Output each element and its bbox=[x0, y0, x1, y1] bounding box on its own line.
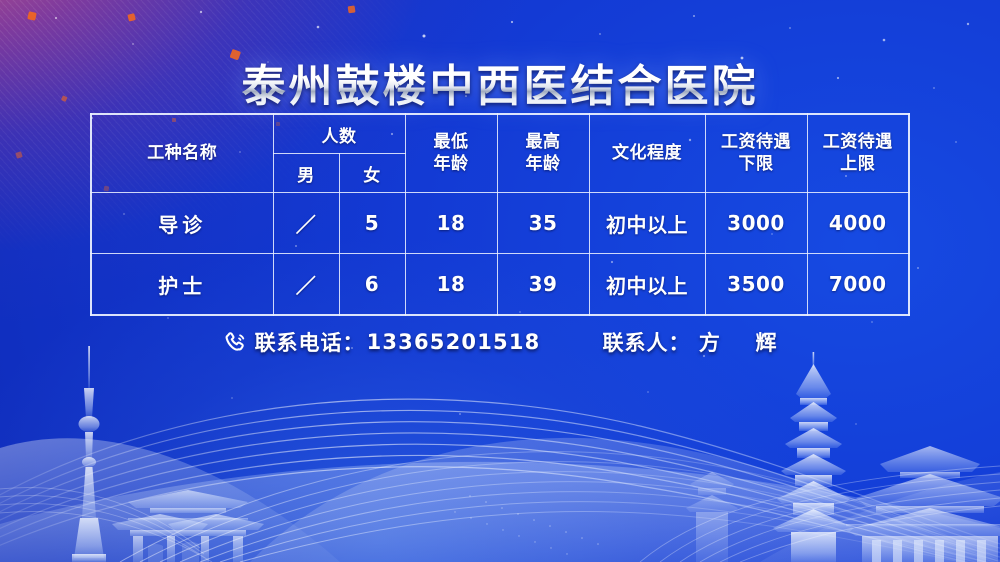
cell-education: 初中以上 bbox=[589, 193, 705, 254]
table-row: 护士 ／ 6 18 39 初中以上 3500 7000 bbox=[91, 254, 909, 316]
contact-person-block: 联系人： 方 辉 bbox=[603, 327, 778, 357]
contact-phone-label: 联系电话： bbox=[255, 327, 365, 357]
recruitment-table: 工种名称 人数 最低 年龄 最高 年龄 文化程度 工资待遇 下限 bbox=[90, 113, 910, 316]
col-header-headcount: 人数 bbox=[273, 114, 405, 154]
cell-salary-high: 7000 bbox=[807, 254, 909, 316]
col-header-salary-low-line2: 下限 bbox=[739, 154, 774, 174]
cell-min-age: 18 bbox=[405, 193, 497, 254]
city-landmark-scenery bbox=[0, 332, 1000, 562]
cell-education: 初中以上 bbox=[589, 254, 705, 316]
col-header-max-age: 最高 年龄 bbox=[497, 114, 589, 193]
col-header-min-age-line1: 最低 bbox=[434, 132, 469, 152]
wave-sheet-left bbox=[0, 438, 340, 562]
contact-person-given: 辉 bbox=[755, 331, 777, 355]
paifang-gate-silhouette bbox=[112, 490, 264, 562]
table-row: 导诊 ／ 5 18 35 初中以上 3000 4000 bbox=[91, 193, 909, 254]
cell-male-count: ／ bbox=[273, 254, 339, 316]
col-header-female: 女 bbox=[339, 154, 405, 193]
table-header-row-1: 工种名称 人数 最低 年龄 最高 年龄 文化程度 工资待遇 下限 bbox=[91, 114, 909, 154]
cell-salary-low: 3000 bbox=[705, 193, 807, 254]
col-header-salary-low: 工资待遇 下限 bbox=[705, 114, 807, 193]
table-header: 工种名称 人数 最低 年龄 最高 年龄 文化程度 工资待遇 下限 bbox=[91, 114, 909, 193]
contact-person-label: 联系人： bbox=[603, 331, 691, 355]
cell-salary-low: 3500 bbox=[705, 254, 807, 316]
recruitment-table-container: 工种名称 人数 最低 年龄 最高 年龄 文化程度 工资待遇 下限 bbox=[90, 113, 910, 316]
col-header-min-age-line2: 年龄 bbox=[434, 154, 469, 174]
table-body: 导诊 ／ 5 18 35 初中以上 3000 4000 护士 ／ 6 18 39… bbox=[91, 193, 909, 316]
cell-female-count: 6 bbox=[339, 254, 405, 316]
cell-job-name: 导诊 bbox=[91, 193, 273, 254]
cell-max-age: 35 bbox=[497, 193, 589, 254]
col-header-salary-low-line1: 工资待遇 bbox=[721, 132, 791, 152]
contact-bar: 联系电话： 13365201518 联系人： 方 辉 bbox=[0, 327, 1000, 357]
poster-canvas: 泰州鼓楼中西医结合医院 工种名称 人数 最低 年龄 最高 年龄 bbox=[0, 0, 1000, 562]
phone-call-icon bbox=[223, 330, 248, 355]
contact-person-surname: 方 bbox=[699, 331, 721, 355]
cell-max-age: 39 bbox=[497, 254, 589, 316]
tv-tower-silhouette bbox=[72, 346, 106, 562]
wave-sheet-center bbox=[250, 438, 1000, 562]
page-title: 泰州鼓楼中西医结合医院 bbox=[242, 63, 759, 111]
col-header-min-age: 最低 年龄 bbox=[405, 114, 497, 193]
cell-salary-high: 4000 bbox=[807, 193, 909, 254]
contact-phone-number[interactable]: 13365201518 bbox=[367, 330, 541, 354]
col-header-job-name: 工种名称 bbox=[91, 114, 273, 193]
cell-male-count: ／ bbox=[273, 193, 339, 254]
cell-job-name: 护士 bbox=[91, 254, 273, 316]
wave-sheet-right bbox=[760, 472, 1000, 562]
col-header-salary-high: 工资待遇 上限 bbox=[807, 114, 909, 193]
hill-shape bbox=[0, 462, 1000, 562]
temple-hall-silhouette bbox=[846, 446, 1000, 562]
col-header-male: 男 bbox=[273, 154, 339, 193]
col-header-max-age-line1: 最高 bbox=[526, 132, 561, 152]
contact-phone-block: 联系电话： 13365201518 bbox=[223, 327, 541, 357]
pagoda-silhouette bbox=[773, 352, 854, 562]
flowing-wave-lines bbox=[0, 362, 1000, 562]
cell-min-age: 18 bbox=[405, 254, 497, 316]
cell-female-count: 5 bbox=[339, 193, 405, 254]
col-header-education: 文化程度 bbox=[589, 114, 705, 193]
col-header-salary-high-line2: 上限 bbox=[840, 154, 875, 174]
col-header-salary-high-line1: 工资待遇 bbox=[823, 132, 893, 152]
distant-pagoda-silhouette bbox=[686, 472, 738, 562]
col-header-max-age-line2: 年龄 bbox=[526, 154, 561, 174]
